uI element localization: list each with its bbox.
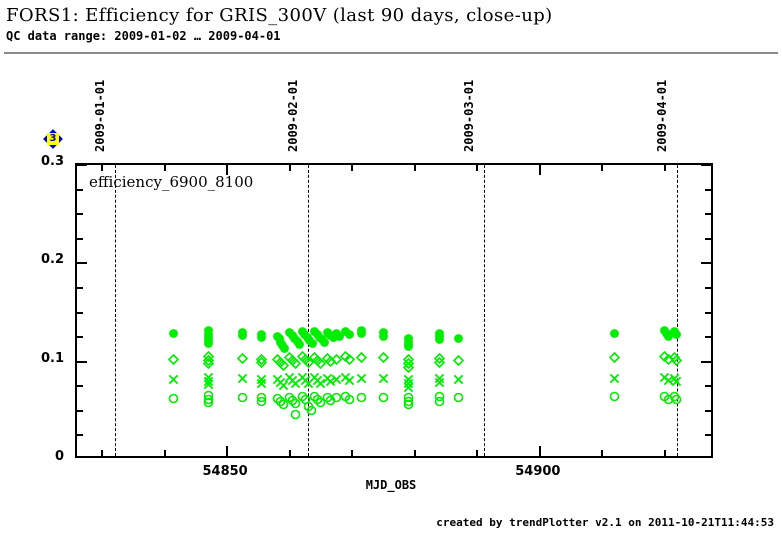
- y-tick-major: [77, 165, 87, 166]
- y-tick-minor-right: [705, 410, 711, 412]
- data-point-open-circle: [306, 403, 317, 421]
- y-tick-minor-right: [705, 287, 711, 289]
- data-point-open-circle: [168, 391, 179, 409]
- qc-data-range: QC data range: 2009-01-02 … 2009-04-01: [6, 29, 281, 43]
- data-point-open-circle: [356, 390, 367, 408]
- data-point-cross: [356, 371, 367, 389]
- y-tick-major: [77, 361, 87, 363]
- header-divider: [4, 52, 778, 54]
- x-tick-major-top: [539, 165, 541, 175]
- data-point-open-diamond: [168, 352, 179, 370]
- x-tick-minor-top: [476, 165, 478, 171]
- data-point-filled-circle: [168, 326, 179, 344]
- y-tick-minor: [77, 213, 83, 215]
- data-point-filled-circle: [237, 328, 248, 346]
- data-point-filled-circle: [378, 329, 389, 347]
- y-tick-minor-right: [705, 336, 711, 338]
- y-tick-minor-right: [705, 238, 711, 240]
- x-tick-minor: [289, 450, 291, 456]
- data-point-open-circle: [378, 390, 389, 408]
- y-tick-minor-right: [705, 385, 711, 387]
- gridline-2009-04-01: [677, 165, 678, 456]
- data-point-filled-circle: [344, 327, 355, 345]
- x-tick-major: [539, 446, 541, 456]
- data-point-open-diamond: [671, 353, 682, 371]
- data-point-open-circle: [237, 390, 248, 408]
- data-point-filled-circle: [434, 332, 445, 350]
- data-point-open-circle: [434, 394, 445, 412]
- y-tick-minor-right: [705, 189, 711, 191]
- status-badge-value: 3: [43, 132, 63, 145]
- x-tick-minor-top: [289, 165, 291, 171]
- data-point-open-circle: [344, 392, 355, 410]
- x-tick-minor: [164, 450, 166, 456]
- x-axis-title: MJD_OBS: [0, 478, 782, 492]
- gridline-2009-01-01: [115, 165, 116, 456]
- x-tick-minor-top: [664, 165, 666, 171]
- footer-credit: created by trendPlotter v2.1 on 2011-10-…: [436, 516, 774, 529]
- x-tick-minor: [664, 450, 666, 456]
- data-point-open-diamond: [609, 350, 620, 368]
- series-legend-label: efficiency_6900_8100: [89, 173, 253, 191]
- x-tick-minor: [414, 450, 416, 456]
- date-tick-2009-02-01: 2009-02-01: [300, 72, 314, 152]
- data-point-open-circle: [403, 397, 414, 415]
- x-tick-minor-top: [601, 165, 603, 171]
- y-tick-minor: [77, 287, 83, 289]
- data-point-open-circle: [290, 407, 301, 425]
- data-point-open-circle: [609, 389, 620, 407]
- data-point-open-diamond: [344, 352, 355, 370]
- y-axis-label-0.1: 0.1: [4, 351, 64, 366]
- x-tick-minor-top: [414, 165, 416, 171]
- gridline-2009-03-01: [484, 165, 485, 456]
- data-point-open-diamond: [356, 350, 367, 368]
- x-tick-minor-top: [164, 165, 166, 171]
- y-axis-label-0.2: 0.2: [4, 252, 64, 267]
- x-tick-minor-top: [101, 165, 103, 171]
- data-point-filled-circle: [453, 331, 464, 349]
- data-point-open-circle: [453, 390, 464, 408]
- x-tick-major: [226, 446, 228, 456]
- x-axis-label-54850: 54850: [180, 464, 270, 479]
- data-point-cross: [378, 371, 389, 389]
- y-tick-major-right: [701, 262, 711, 264]
- qc-status-badge[interactable]: 3: [43, 129, 63, 149]
- y-axis-label-0: 0: [4, 449, 64, 464]
- data-point-open-circle: [671, 392, 682, 410]
- date-tick-label: 2009-02-01: [286, 80, 300, 152]
- y-tick-minor: [77, 434, 83, 436]
- y-tick-minor-right: [705, 312, 711, 314]
- y-tick-minor: [77, 312, 83, 314]
- data-point-open-diamond: [256, 355, 267, 373]
- y-tick-minor-right: [705, 213, 711, 215]
- date-tick-label: 2009-01-01: [93, 80, 107, 152]
- date-tick-label: 2009-04-01: [655, 80, 669, 152]
- plot-area[interactable]: efficiency_6900_8100: [75, 163, 713, 458]
- data-point-cross: [609, 371, 620, 389]
- data-point-open-circle: [203, 395, 214, 413]
- data-point-filled-circle: [671, 327, 682, 345]
- y-tick-minor: [77, 189, 83, 191]
- x-tick-minor: [101, 450, 103, 456]
- date-tick-label: 2009-03-01: [462, 80, 476, 152]
- data-point-filled-circle: [609, 326, 620, 344]
- x-tick-minor: [476, 450, 478, 456]
- y-tick-minor: [77, 336, 83, 338]
- y-tick-minor-right: [705, 434, 711, 436]
- data-point-filled-circle: [356, 326, 367, 344]
- data-point-cross: [237, 371, 248, 389]
- y-tick-minor: [77, 385, 83, 387]
- x-axis-label-54900: 54900: [493, 464, 583, 479]
- x-tick-minor: [601, 450, 603, 456]
- y-tick-major-right: [701, 165, 711, 166]
- y-tick-minor: [77, 410, 83, 412]
- y-tick-major: [77, 262, 87, 264]
- y-axis-label-0.3: 0.3: [4, 154, 64, 169]
- y-tick-minor: [77, 238, 83, 240]
- data-point-cross: [453, 372, 464, 390]
- data-point-open-circle: [256, 394, 267, 412]
- date-tick-2009-01-01: 2009-01-01: [107, 72, 121, 152]
- y-tick-major-right: [701, 361, 711, 363]
- x-tick-minor: [351, 450, 353, 456]
- data-point-filled-circle: [256, 330, 267, 348]
- date-tick-2009-04-01: 2009-04-01: [669, 72, 683, 152]
- data-point-open-diamond: [453, 353, 464, 371]
- data-point-cross: [168, 372, 179, 390]
- x-tick-minor-top: [351, 165, 353, 171]
- data-point-open-diamond: [378, 350, 389, 368]
- data-point-open-diamond: [237, 351, 248, 369]
- plot-canvas: efficiency_6900_8100: [77, 165, 711, 456]
- date-tick-2009-03-01: 2009-03-01: [476, 72, 490, 152]
- page-title: FORS1: Efficiency for GRIS_300V (last 90…: [6, 5, 553, 26]
